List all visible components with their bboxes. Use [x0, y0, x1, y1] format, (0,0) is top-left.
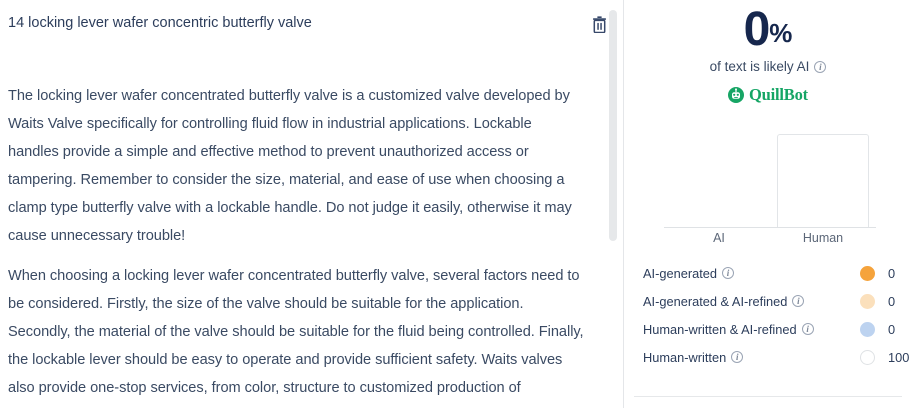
legend-row-ai-generated[interactable]: AI-generated i 0 [624, 259, 912, 287]
document-body[interactable]: The locking lever wafer concentrated but… [8, 82, 586, 408]
legend-color-dot [860, 350, 875, 365]
legend-row-human-written-ai-refined[interactable]: Human-written & AI-refined i 0 [624, 315, 912, 343]
legend-value: 100 [888, 350, 909, 365]
document-pane: 14 locking lever wafer concentric butter… [0, 0, 624, 408]
chart-axis-line [664, 227, 876, 228]
bar-slot-human [777, 134, 869, 227]
brand-name: QuillBot [749, 85, 808, 105]
chart-plot-area [664, 131, 876, 228]
legend-label: AI-generated & AI-refined [643, 294, 787, 309]
ai-detector-app: 14 locking lever wafer concentric butter… [0, 0, 912, 408]
legend-value: 0 [888, 294, 895, 309]
chart-tick-label-human: Human [777, 231, 869, 245]
chart-tick-label-ai: AI [673, 231, 765, 245]
document-paragraph: The locking lever wafer concentrated but… [8, 82, 586, 250]
info-icon[interactable]: i [731, 351, 743, 363]
legend-row-ai-generated-ai-refined[interactable]: AI-generated & AI-refined i 0 [624, 287, 912, 315]
document-scrollbar-thumb[interactable] [609, 10, 617, 241]
legend-value: 0 [888, 266, 895, 281]
delete-button[interactable] [589, 14, 609, 35]
info-icon[interactable]: i [792, 295, 804, 307]
document-paragraph: When choosing a locking lever wafer conc… [8, 262, 586, 408]
section-divider [634, 396, 902, 397]
score-block: 0% of text is likely AI i QuillBot [624, 0, 912, 105]
legend-row-human-written[interactable]: Human-written i 100 [624, 343, 912, 371]
document-title: 14 locking lever wafer concentric butter… [8, 13, 568, 34]
percent-sign: % [769, 18, 792, 48]
trash-icon [592, 16, 607, 33]
bar-human [777, 134, 869, 227]
legend-color-dot [860, 294, 875, 309]
score-caption-text: of text is likely AI [710, 59, 810, 74]
legend-label: AI-generated [643, 266, 717, 281]
results-pane: 0% of text is likely AI i QuillBot [624, 0, 912, 408]
legend-color-dot [860, 322, 875, 337]
info-icon[interactable]: i [814, 61, 826, 73]
ai-human-bar-chart: AI Human [624, 131, 912, 246]
info-icon[interactable]: i [802, 323, 814, 335]
score-caption: of text is likely AI i [624, 59, 912, 74]
legend-label: Human-written [643, 350, 726, 365]
info-icon[interactable]: i [722, 267, 734, 279]
ai-score-number: 0 [744, 3, 770, 56]
legend-value: 0 [888, 322, 895, 337]
legend-label: Human-written & AI-refined [643, 322, 797, 337]
breakdown-legend: AI-generated i 0 AI-generated & AI-refin… [624, 259, 912, 371]
ai-score-value: 0% [744, 4, 793, 56]
brand-row: QuillBot [624, 85, 912, 105]
legend-color-dot [860, 266, 875, 281]
quillbot-robot-icon [728, 87, 744, 103]
